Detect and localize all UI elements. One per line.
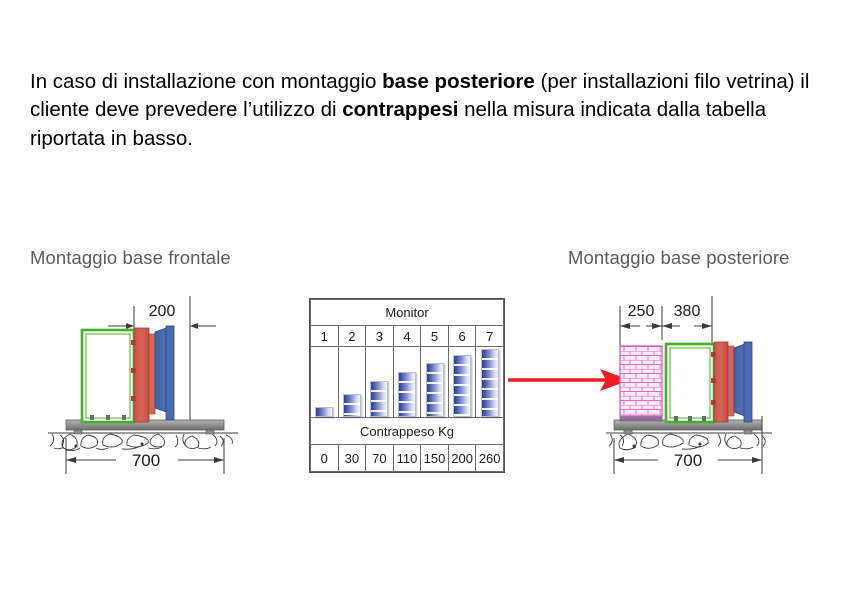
panel-heading-front-mount: Montaggio base frontale [30, 247, 231, 269]
bar-3 [370, 381, 388, 417]
table-row-header: Monitor [311, 300, 504, 326]
diagram-front-mount: 200 [30, 288, 265, 488]
bar-cell-7 [476, 347, 504, 418]
intro-segment-1: In caso di installazione con montaggio [30, 70, 382, 93]
bar-cell-6 [448, 347, 476, 418]
monitor-index-2: 2 [338, 326, 366, 347]
counterweight-value-6: 200 [448, 445, 476, 472]
dimension-label-700-left: 700 [132, 451, 160, 470]
bar-cell-3 [366, 347, 394, 418]
dimension-label-250: 250 [628, 303, 655, 320]
bar-cell-5 [421, 347, 449, 418]
counterweight-value-2: 30 [338, 445, 366, 472]
monitor-index-7: 7 [476, 326, 504, 347]
counterweight-footing [620, 416, 662, 421]
monitor-bracket [714, 342, 728, 422]
counterweight-value-3: 70 [366, 445, 394, 472]
counterweight-value-7: 260 [476, 445, 504, 472]
table-row-index: 1 2 3 4 5 6 7 [311, 326, 504, 347]
monitor-bracket [134, 328, 149, 422]
cabinet-frame [666, 344, 714, 422]
monitor-index-5: 5 [421, 326, 449, 347]
intro-segment-2-bold: base posteriore [382, 70, 535, 93]
bar-4 [398, 372, 416, 417]
dimension-label-700-right: 700 [674, 451, 702, 470]
monitor-index-1: 1 [311, 326, 339, 347]
cabinet-frame [82, 330, 134, 422]
diagram-rear-mount: 250 380 [600, 288, 840, 488]
dimension-label-380: 380 [674, 303, 701, 320]
ground-hatch [606, 433, 772, 450]
table-subheader-contrappeso: Contrappeso Kg [311, 418, 504, 445]
bar-cell-1 [311, 347, 339, 418]
intro-segment-4-bold: contrappesi [342, 98, 458, 121]
monitor-index-3: 3 [366, 326, 394, 347]
counterweight-table: Monitor 1 2 3 4 5 6 7 Contrappe [309, 298, 505, 473]
bar-cell-2 [338, 347, 366, 418]
monitor-index-6: 6 [448, 326, 476, 347]
bar-6 [453, 355, 471, 417]
bar-7 [481, 349, 499, 417]
panel-heading-rear-mount: Montaggio base posteriore [568, 247, 790, 269]
counterweight-block [620, 346, 662, 416]
table-header-monitor: Monitor [311, 300, 504, 326]
ground-hatch [48, 433, 238, 451]
table-row-subheader: Contrappeso Kg [311, 418, 504, 445]
counterweight-value-1: 0 [311, 445, 339, 472]
bar-cell-4 [393, 347, 421, 418]
counterweight-value-5: 150 [421, 445, 449, 472]
bar-5 [426, 363, 444, 417]
dimension-label-200: 200 [149, 303, 176, 320]
table-row-values: 0 30 70 110 150 200 260 [311, 445, 504, 472]
intro-paragraph: In caso di installazione con montaggio b… [30, 68, 820, 153]
counterweight-value-4: 110 [393, 445, 421, 472]
monitor-index-4: 4 [393, 326, 421, 347]
bar-2 [343, 394, 361, 417]
table-row-bars [311, 347, 504, 418]
bar-1 [315, 407, 333, 417]
